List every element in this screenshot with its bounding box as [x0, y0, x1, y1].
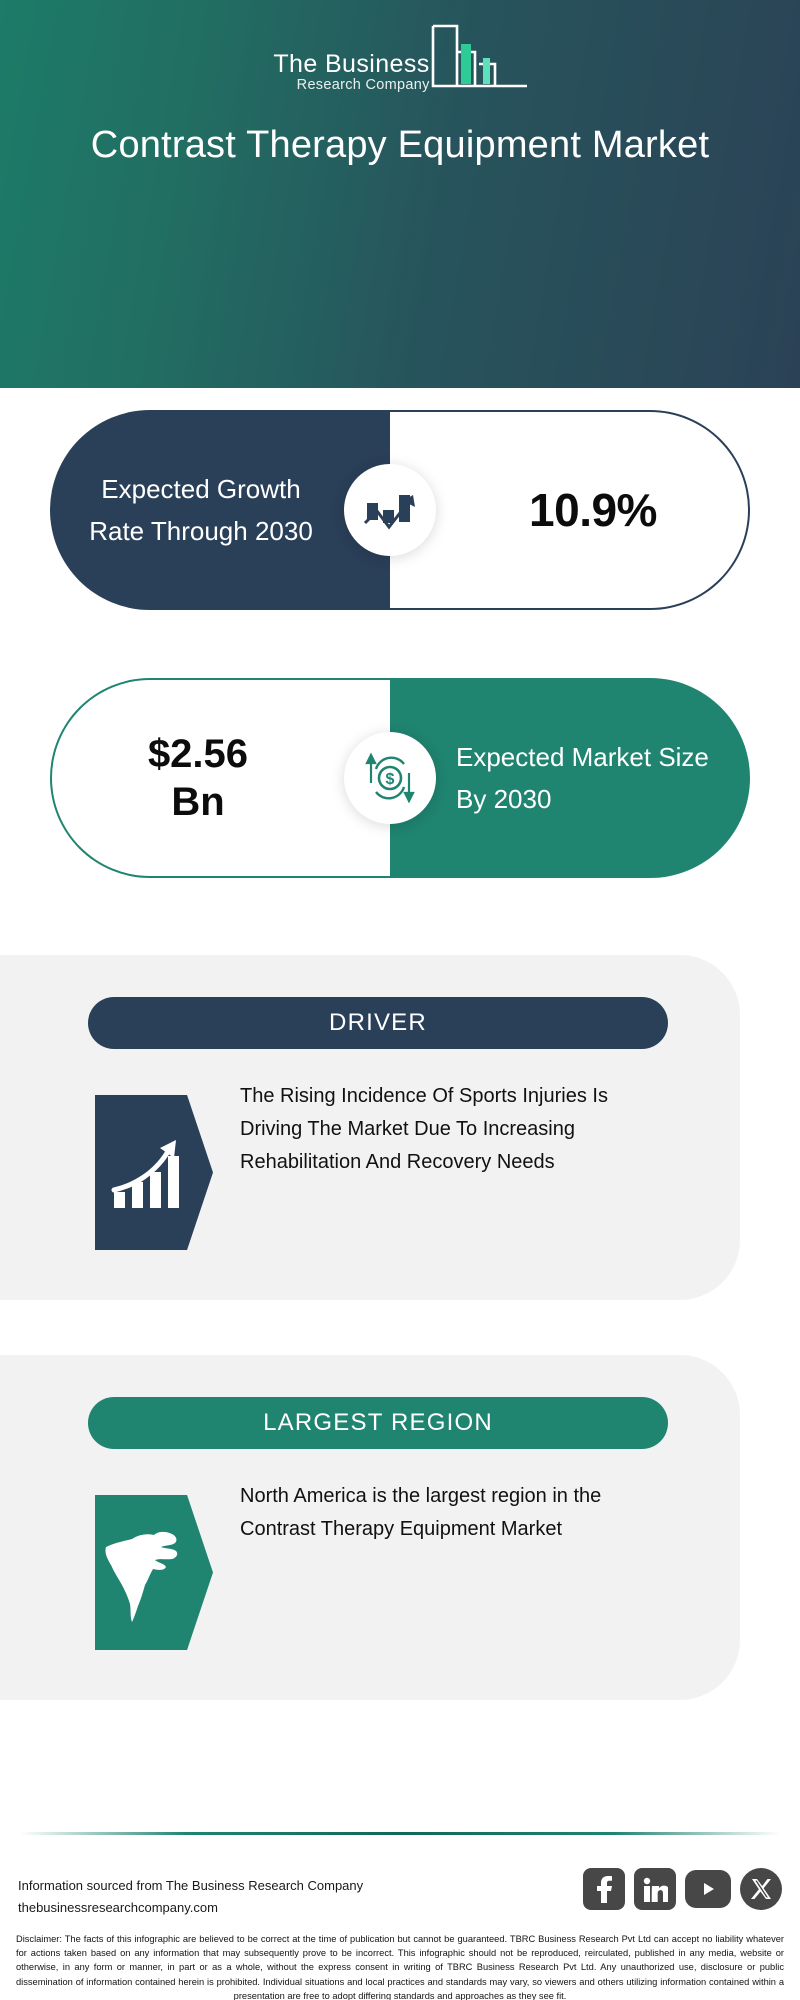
stat-market-label-panel: Expected Market Size By 2030 [390, 678, 750, 878]
source-line-2[interactable]: thebusinessresearchcompany.com [18, 1897, 363, 1919]
disclaimer-text: Disclaimer: The facts of this infographi… [16, 1932, 784, 2000]
header-banner: The Business Research Company [0, 0, 800, 388]
stat-market-value-line1: $2.56 [148, 732, 248, 776]
source-line-1: Information sourced from The Business Re… [18, 1875, 363, 1897]
stat-market-label: Expected Market Size By 2030 [390, 736, 750, 820]
page-title: Contrast Therapy Equipment Market [60, 120, 740, 170]
stat-market-value-line2: Bn [171, 780, 224, 824]
linkedin-icon[interactable] [634, 1868, 676, 1910]
bar-chart-logo-mark [431, 22, 527, 97]
stat-growth-value-panel: 10.9% [390, 410, 750, 610]
stat-growth-label: Expected Growth Rate Through 2030 [50, 468, 390, 552]
region-body-text: North America is the largest region in t… [240, 1480, 640, 1546]
stat-growth-value: 10.9% [481, 483, 657, 537]
stat-growth-label-panel: Expected Growth Rate Through 2030 [50, 410, 390, 610]
footer-divider [20, 1832, 780, 1835]
facebook-icon[interactable] [583, 1868, 625, 1910]
stat-market-size: $2.56 Bn Expected Market Size By 2030 $ [50, 678, 750, 878]
x-twitter-icon[interactable] [740, 1868, 782, 1910]
stat-growth-rate: Expected Growth Rate Through 2030 10.9% [50, 410, 750, 610]
source-attribution: Information sourced from The Business Re… [18, 1875, 363, 1919]
stat-market-value-panel: $2.56 Bn [50, 678, 390, 878]
north-america-map-icon [95, 1495, 213, 1650]
dollar-circular-arrows-icon: $ [344, 732, 436, 824]
social-links [583, 1868, 782, 1910]
company-logo: The Business Research Company [0, 22, 800, 97]
driver-body-text: The Rising Incidence Of Sports Injuries … [240, 1080, 640, 1179]
infographic-page: The Business Research Company [0, 0, 800, 2000]
region-pill-title: LARGEST REGION [88, 1397, 668, 1449]
stat-market-value: $2.56 Bn [122, 730, 320, 826]
svg-text:$: $ [386, 771, 395, 788]
growth-chart-arrow-icon [344, 464, 436, 556]
logo-text-secondary: Research Company [297, 77, 430, 94]
youtube-icon[interactable] [685, 1870, 731, 1908]
logo-text-primary: The Business [273, 51, 429, 77]
rising-bar-chart-icon [95, 1095, 213, 1250]
largest-region-card: LARGEST REGION North America is the larg… [0, 1355, 740, 1700]
driver-card: DRIVER The Rising Incidence Of Sports In… [0, 955, 740, 1300]
driver-pill-title: DRIVER [88, 997, 668, 1049]
